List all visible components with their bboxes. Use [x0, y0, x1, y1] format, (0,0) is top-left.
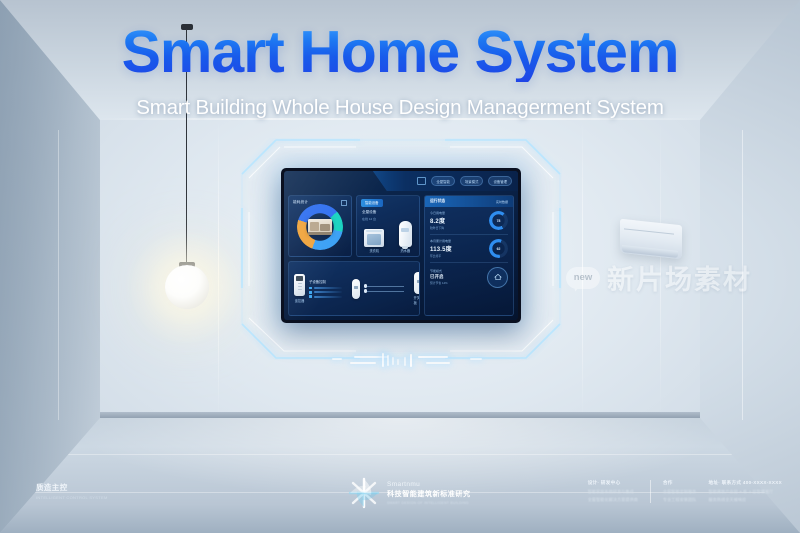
remote-label: 遥控器 [295, 298, 305, 303]
footer-left-line2: INTELLIGENT CONTROL SYSTEM [36, 495, 108, 500]
metric-footer-1: 环比持平 [430, 254, 452, 258]
status-panel-title: 运行状态 [430, 199, 445, 204]
baseboard [100, 412, 700, 419]
dashboard-top-row: 能耗统计 [288, 195, 420, 257]
footer-left: 质造主控 INTELLIGENT CONTROL SYSTEM [36, 482, 108, 500]
dashboard-left-column: 能耗统计 [288, 195, 420, 316]
home-button[interactable] [487, 267, 508, 288]
footer-column-0: 设计· 研发中心 智能家居系统研发与集成 全屋智能化解决方案提供商 [588, 480, 638, 503]
list-item[interactable] [309, 287, 342, 290]
footer-column-1: 合作 全屋智能定制服务 专业工程安装团队 [663, 480, 697, 503]
footer-col0-heading: 设计· 研发中心 [588, 480, 638, 486]
grid-icon[interactable] [417, 177, 426, 185]
home-icon [494, 273, 502, 281]
footer-left-line1: 质造主控 [36, 482, 108, 493]
status-panel[interactable]: 运行状态 实时数据 今日用电量 8.2度 较昨日下降 [424, 195, 514, 316]
footer-center-line3: SMART DESIGN OF INTELLIGENT BUILDING [387, 501, 471, 505]
list-item[interactable] [309, 291, 342, 294]
company-logo-icon [347, 476, 381, 510]
metric-caption-2: 节能模式 [430, 269, 448, 273]
metric-footer-0: 较昨日下降 [430, 226, 445, 230]
metric-value-0: 8.2度 [430, 216, 445, 225]
header-actions: 全屋智能 场景模式 设备管理 [417, 176, 512, 186]
metric-caption-1: 本月累计用电量 [430, 239, 452, 243]
header-button-0[interactable]: 全屋智能 [431, 176, 455, 186]
gauge-text-0: 78 [497, 219, 501, 223]
footer-col1-line0: 全屋智能定制服务 [663, 489, 697, 495]
switch-panel-icon[interactable] [414, 272, 420, 294]
energy-card[interactable]: 能耗统计 [288, 195, 352, 257]
watermark-badge: new [566, 267, 600, 289]
page-subtitle: Smart Building Whole House Design Manage… [0, 96, 800, 120]
status-panel-header: 运行状态 实时数据 [425, 196, 513, 207]
switch-label: 开关面板 [414, 295, 420, 305]
brand-subtitle: 智能家居系统 [341, 181, 364, 186]
header-button-2[interactable]: 设备管理 [488, 176, 512, 186]
controls-card[interactable]: 遥控器 子设备控制 [288, 261, 420, 316]
wall-display[interactable]: Smart Home 智能家居系统 全屋智能 场景模式 设备管理 能耗统计 [281, 168, 521, 323]
footer-col2-line1: 服务热线全天候响应 [709, 497, 782, 503]
footer-column-2: 地址· 联系方式 400-XXXX-XXXX 智能建筑产业园 A 栋 3 层智慧… [709, 480, 782, 503]
metric-footer-2: 预计节省 14% [430, 281, 448, 285]
devices-card[interactable]: 智能设备 全屋设备 在线 12 台 洗衣机 [356, 195, 420, 257]
footer-col1-line1: 专业工程安装团队 [663, 497, 697, 503]
metric-row[interactable]: 本月累计用电量 113.5度 环比持平 62 [430, 239, 508, 258]
brand: Smart Home 智能家居系统 [292, 177, 364, 186]
footer-center-line1: Smartnmu [387, 481, 471, 488]
watermark-text: 新片场素材 [607, 258, 752, 297]
dashboard-body: 能耗统计 [284, 191, 518, 320]
water-heater-icon [399, 221, 412, 247]
brand-title: Smart Home [292, 177, 338, 186]
header-button-1[interactable]: 场景模式 [460, 176, 484, 186]
poster-root: Smart Home 智能家居系统 全屋智能 场景模式 设备管理 能耗统计 [0, 0, 800, 533]
watermark-badge-text: new [574, 272, 592, 283]
device-label-0: 洗衣机 [369, 248, 379, 253]
light-strips [332, 350, 482, 376]
control-list: 子设备控制 [309, 279, 342, 298]
footer-right: 设计· 研发中心 智能家居系统研发与集成 全屋智能化解决方案提供商 合作 全屋智… [588, 480, 782, 503]
gauge-text-1: 62 [497, 247, 501, 251]
footer-col0-line0: 智能家居系统研发与集成 [588, 489, 638, 495]
footer-divider [650, 480, 651, 503]
gauge-1: 62 [489, 239, 508, 258]
watermark: new 新片场素材 [566, 258, 752, 297]
device-label-1: 热水器 [400, 248, 410, 253]
metric-row[interactable]: 今日用电量 8.2度 较昨日下降 78 [430, 211, 508, 230]
footer-center-text: Smartnmu 科技智能建筑新标准研究 SMART DESIGN OF INT… [387, 481, 471, 505]
device-list: 洗衣机 热水器 [357, 221, 419, 254]
devices-card-subtitle: 全屋设备 [362, 210, 376, 215]
energy-donut-chart [297, 204, 343, 250]
divider [430, 262, 508, 263]
gauge-0: 78 [489, 211, 508, 230]
device-water-heater[interactable]: 热水器 [399, 221, 412, 254]
status-panel-subtitle: 实时数据 [496, 200, 508, 204]
metric-value-2: 已开启 [430, 274, 448, 280]
controls-card-title: 子设备控制 [309, 279, 342, 284]
footer-col1-heading: 合作 [663, 480, 697, 486]
switch-section: 开关面板 [409, 272, 420, 306]
list-item[interactable] [309, 295, 342, 298]
footer-center: Smartnmu 科技智能建筑新标准研究 SMART DESIGN OF INT… [347, 476, 471, 510]
footer-col2-heading: 地址· 联系方式 400-XXXX-XXXX [709, 480, 782, 486]
washing-machine-icon [364, 229, 384, 247]
bullet-icon [309, 295, 312, 298]
metric-row[interactable]: 节能模式 已开启 预计节省 14% [430, 267, 508, 288]
donut-center-image [308, 219, 332, 235]
metric-value-1: 113.5度 [430, 244, 452, 253]
sensor-icon[interactable] [352, 279, 360, 299]
footer-center-line2: 科技智能建筑新标准研究 [387, 489, 471, 499]
pendant-lamp-icon [165, 265, 209, 309]
brightness-slider[interactable] [364, 286, 404, 287]
footer-col0-line1: 全屋智能化解决方案提供商 [588, 497, 638, 503]
bullet-icon [309, 291, 312, 294]
remote-control-icon[interactable] [294, 274, 305, 296]
volume-slider[interactable] [364, 291, 404, 292]
footer-col2-line0: 智能建筑产业园 A 栋 3 层智慧展厅 [709, 489, 782, 495]
page-title: Smart Home System [0, 23, 800, 82]
metric-caption-0: 今日用电量 [430, 211, 445, 215]
dashboard-header: Smart Home 智能家居系统 全屋智能 场景模式 设备管理 [284, 171, 518, 191]
bullet-icon [309, 287, 312, 290]
devices-card-tag: 智能设备 [361, 199, 383, 207]
remote-section: 遥控器 子设备控制 [289, 274, 347, 303]
left-wall-seam [58, 130, 59, 420]
divider [430, 234, 508, 235]
dashboard-screen: Smart Home 智能家居系统 全屋智能 场景模式 设备管理 能耗统计 [284, 171, 518, 320]
device-washing-machine[interactable]: 洗衣机 [364, 229, 384, 254]
slider-section [347, 279, 409, 299]
status-metrics: 今日用电量 8.2度 较昨日下降 78 [425, 207, 513, 315]
